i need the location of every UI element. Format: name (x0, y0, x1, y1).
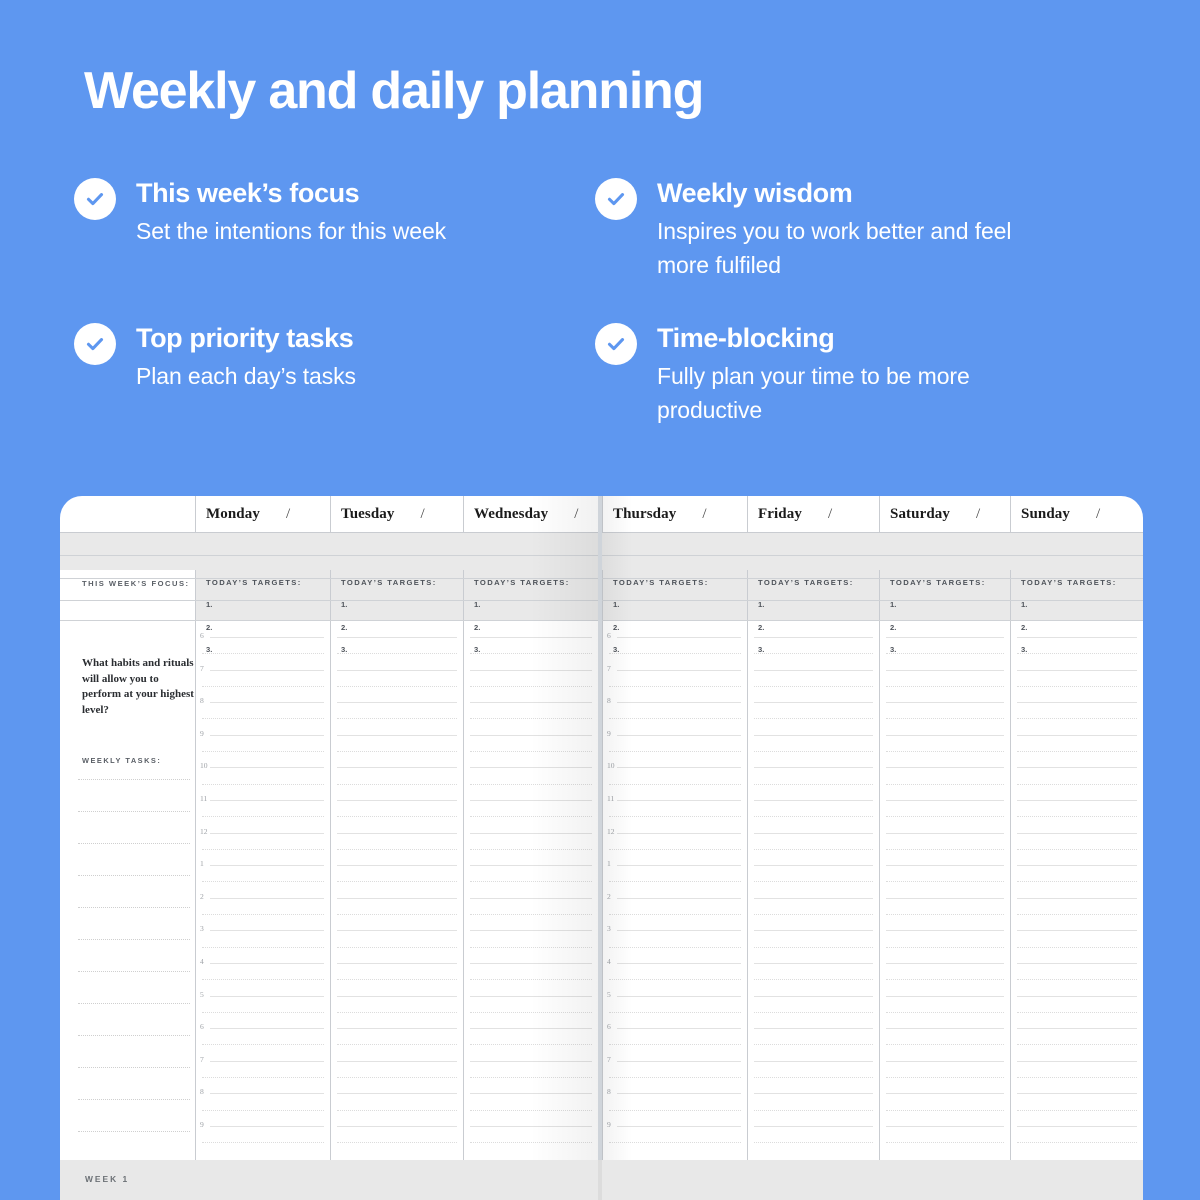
hour-rule (617, 1126, 741, 1127)
hour-rule (754, 735, 873, 736)
hour-row[interactable] (748, 670, 879, 703)
hour-row[interactable] (1011, 963, 1143, 996)
half-hour-rule (886, 686, 1004, 687)
hour-rule (754, 930, 873, 931)
hour-rule (210, 898, 324, 899)
hour-row[interactable]: 1 (603, 865, 747, 898)
hour-row[interactable] (880, 1126, 1010, 1159)
hour-row[interactable] (1011, 996, 1143, 1029)
hour-row[interactable] (331, 963, 463, 996)
feature-description: Plan each day’s tasks (136, 359, 514, 394)
half-hour-rule (754, 751, 873, 752)
hour-label: 7 (200, 1055, 204, 1064)
half-hour-rule (1017, 718, 1137, 719)
hour-row[interactable] (748, 833, 879, 866)
hour-row[interactable] (748, 898, 879, 931)
target-item-2[interactable]: 2. (1021, 623, 1027, 632)
hour-label: 10 (200, 761, 208, 770)
half-hour-rule (609, 979, 741, 980)
hour-rule (337, 670, 457, 671)
hour-label: 4 (607, 957, 611, 966)
day-date-field[interactable]: / (702, 506, 706, 523)
hour-row[interactable] (880, 1028, 1010, 1061)
day-date-field[interactable]: / (421, 506, 425, 523)
hour-row[interactable] (464, 833, 598, 866)
weekly-task-line[interactable] (78, 1099, 190, 1100)
hour-row[interactable] (331, 767, 463, 800)
hour-rule (337, 996, 457, 997)
hour-row[interactable]: 8 (603, 702, 747, 735)
half-hour-rule (609, 1044, 741, 1045)
hour-rule (617, 865, 741, 866)
half-hour-rule (470, 849, 592, 850)
hour-label: 5 (200, 990, 204, 999)
half-hour-rule (202, 1077, 324, 1078)
day-header-monday[interactable]: Monday/ (195, 496, 330, 533)
todays-targets-sunday[interactable]: TODAY’S TARGETS:1.2.3. (1010, 570, 1143, 658)
hour-row[interactable] (880, 670, 1010, 703)
hour-label: 9 (200, 1120, 204, 1129)
todays-targets-tuesday[interactable]: TODAY’S TARGETS:1.2.3. (330, 570, 463, 658)
weekly-task-line[interactable] (78, 907, 190, 908)
todays-targets-wednesday[interactable]: TODAY’S TARGETS:1.2.3. (463, 570, 598, 658)
target-item-2[interactable]: 2. (206, 623, 212, 632)
half-hour-rule (1017, 1142, 1137, 1143)
hour-row[interactable]: 7 (603, 670, 747, 703)
feature-title: This week’s focus (136, 176, 514, 211)
hour-row[interactable]: 2 (603, 898, 747, 931)
hour-row[interactable] (748, 800, 879, 833)
hour-rule (886, 735, 1004, 736)
half-hour-rule (754, 1044, 873, 1045)
check-circle-icon (595, 178, 637, 220)
half-hour-rule (886, 1077, 1004, 1078)
hour-label: 12 (200, 827, 208, 836)
half-hour-rule (470, 947, 592, 948)
feature-description: Fully plan your time to be more producti… (657, 359, 1065, 428)
day-column-friday[interactable] (747, 621, 879, 1160)
hour-row[interactable]: 6 (196, 1028, 330, 1061)
half-hour-rule (886, 816, 1004, 817)
hour-row[interactable]: 3 (196, 930, 330, 963)
hour-rule (886, 898, 1004, 899)
target-item-3[interactable]: 3. (206, 645, 212, 654)
hour-row[interactable] (331, 702, 463, 735)
hour-row[interactable] (1011, 930, 1143, 963)
day-name: Monday (206, 506, 260, 523)
hour-rule (754, 670, 873, 671)
hour-row[interactable]: 6 (603, 1028, 747, 1061)
hour-row[interactable] (748, 1028, 879, 1061)
target-item-1[interactable]: 1. (474, 600, 480, 609)
half-hour-rule (886, 1044, 1004, 1045)
hour-row[interactable]: 3 (603, 930, 747, 963)
hour-row[interactable]: 7 (196, 670, 330, 703)
half-hour-rule (337, 979, 457, 980)
hour-rule (1017, 800, 1137, 801)
hour-rule (617, 767, 741, 768)
target-item-2[interactable]: 2. (613, 623, 619, 632)
hour-rule (886, 800, 1004, 801)
hour-row[interactable] (880, 865, 1010, 898)
hour-row[interactable] (880, 833, 1010, 866)
weekly-task-line[interactable] (78, 939, 190, 940)
hour-label: 1 (607, 859, 611, 868)
target-item-3[interactable]: 3. (758, 645, 764, 654)
hour-rule (886, 930, 1004, 931)
hour-rule (337, 1126, 457, 1127)
todays-targets-friday[interactable]: TODAY’S TARGETS:1.2.3. (747, 570, 879, 658)
todays-targets-saturday[interactable]: TODAY’S TARGETS:1.2.3. (879, 570, 1010, 658)
hour-label: 2 (200, 892, 204, 901)
hour-rule (617, 963, 741, 964)
hour-row[interactable] (464, 735, 598, 768)
half-hour-rule (470, 979, 592, 980)
hour-rule (886, 996, 1004, 997)
hour-rule (617, 930, 741, 931)
target-item-1[interactable]: 1. (1021, 600, 1027, 609)
hour-row[interactable]: 1 (196, 865, 330, 898)
hour-row[interactable] (464, 1093, 598, 1126)
hour-row[interactable]: 9 (196, 735, 330, 768)
hour-row[interactable] (880, 996, 1010, 1029)
weekly-task-line[interactable] (78, 971, 190, 972)
half-hour-rule (754, 816, 873, 817)
hour-row[interactable] (748, 1126, 879, 1159)
half-hour-rule (337, 947, 457, 948)
hour-row[interactable] (880, 930, 1010, 963)
weekly-task-line[interactable] (78, 1003, 190, 1004)
weekly-task-line[interactable] (78, 843, 190, 844)
hour-row[interactable] (331, 735, 463, 768)
hour-rule (210, 833, 324, 834)
hour-row[interactable]: 4 (196, 963, 330, 996)
hour-row[interactable] (748, 996, 879, 1029)
check-circle-icon (74, 178, 116, 220)
todays-targets-label: TODAY’S TARGETS: (890, 578, 986, 587)
day-name: Sunday (1021, 506, 1070, 523)
hour-row[interactable] (464, 1126, 598, 1159)
hour-row[interactable]: 4 (603, 963, 747, 996)
half-hour-rule (202, 751, 324, 752)
half-hour-rule (470, 718, 592, 719)
half-hour-rule (886, 718, 1004, 719)
hour-rule (337, 930, 457, 931)
hour-row[interactable]: 7 (603, 1061, 747, 1094)
target-item-1[interactable]: 1. (613, 600, 619, 609)
target-item-1[interactable]: 1. (890, 600, 896, 609)
hour-row[interactable] (1011, 1061, 1143, 1094)
hour-row[interactable]: 8 (196, 1093, 330, 1126)
hour-row[interactable] (331, 865, 463, 898)
day-header-wednesday[interactable]: Wednesday/ (463, 496, 598, 533)
target-item-2[interactable]: 2. (474, 623, 480, 632)
hour-rule (470, 735, 592, 736)
hour-row[interactable] (748, 1093, 879, 1126)
day-date-field[interactable]: / (828, 506, 832, 523)
half-hour-rule (609, 784, 741, 785)
time-grid-monday: 6789101112123456789 (196, 621, 330, 1160)
day-name: Tuesday (341, 506, 395, 523)
half-hour-rule (1017, 816, 1137, 817)
target-item-3[interactable]: 3. (890, 645, 896, 654)
weekly-tasks-label: WEEKLY TASKS: (82, 756, 161, 765)
hour-row[interactable] (1011, 1093, 1143, 1126)
target-item-3[interactable]: 3. (341, 645, 347, 654)
hour-row[interactable] (331, 1028, 463, 1061)
half-hour-rule (886, 881, 1004, 882)
hour-row[interactable] (464, 1028, 598, 1061)
half-hour-rule (202, 914, 324, 915)
todays-targets-label: TODAY’S TARGETS: (474, 578, 570, 587)
hour-rule (886, 767, 1004, 768)
feature-this-weeks-focus: This week’s focus Set the intentions for… (74, 176, 514, 248)
day-header-saturday[interactable]: Saturday/ (879, 496, 1010, 533)
hour-row[interactable] (464, 702, 598, 735)
hour-row[interactable] (464, 930, 598, 963)
hour-row[interactable] (880, 800, 1010, 833)
hour-row[interactable]: 11 (603, 800, 747, 833)
hour-rule (1017, 833, 1137, 834)
hour-row[interactable] (331, 670, 463, 703)
hour-row[interactable]: 12 (603, 833, 747, 866)
half-hour-rule (609, 881, 741, 882)
hour-row[interactable] (464, 865, 598, 898)
half-hour-rule (202, 784, 324, 785)
half-hour-rule (609, 1110, 741, 1111)
half-hour-rule (754, 1077, 873, 1078)
hour-row[interactable] (748, 735, 879, 768)
target-item-2[interactable]: 2. (341, 623, 347, 632)
day-column-saturday[interactable] (879, 621, 1010, 1160)
hour-row[interactable] (1011, 865, 1143, 898)
hour-row[interactable] (748, 702, 879, 735)
hour-label: 6 (200, 1022, 204, 1031)
this-weeks-focus-panel[interactable]: THIS WEEK’S FOCUS: (60, 570, 195, 658)
target-item-3[interactable]: 3. (474, 645, 480, 654)
half-hour-rule (1017, 751, 1137, 752)
target-item-1[interactable]: 1. (341, 600, 347, 609)
hour-rule (337, 1028, 457, 1029)
hour-row[interactable]: 7 (196, 1061, 330, 1094)
hour-row[interactable]: 9 (603, 1126, 747, 1159)
hour-rule (1017, 670, 1137, 671)
hour-rule (886, 833, 1004, 834)
hour-row[interactable] (464, 800, 598, 833)
hour-row[interactable] (464, 963, 598, 996)
this-weeks-focus-label: THIS WEEK’S FOCUS: (82, 579, 190, 588)
hour-rule (1017, 702, 1137, 703)
hour-row[interactable]: 5 (603, 996, 747, 1029)
left-panel-body: WEEKLY WISDOM: What habits and rituals w… (60, 621, 195, 1160)
hour-row[interactable] (1011, 833, 1143, 866)
hour-row[interactable]: 8 (603, 1093, 747, 1126)
weekly-task-line[interactable] (78, 1067, 190, 1068)
hour-row[interactable] (464, 767, 598, 800)
hour-label: 9 (607, 1120, 611, 1129)
hour-rule (210, 670, 324, 671)
hour-rule (210, 1093, 324, 1094)
hour-rule (1017, 865, 1137, 866)
half-hour-rule (1017, 849, 1137, 850)
day-name: Saturday (890, 506, 950, 523)
hour-label: 1 (200, 859, 204, 868)
target-item-2[interactable]: 2. (758, 623, 764, 632)
day-header-thursday[interactable]: Thursday/ (602, 496, 747, 533)
hour-row[interactable] (748, 1061, 879, 1094)
todays-targets-thursday[interactable]: TODAY’S TARGETS:1.2.3. (602, 570, 747, 658)
hour-rule (886, 865, 1004, 866)
hour-row[interactable] (880, 702, 1010, 735)
half-hour-rule (202, 947, 324, 948)
hour-row[interactable]: 8 (196, 702, 330, 735)
half-hour-rule (337, 784, 457, 785)
hour-row[interactable] (464, 670, 598, 703)
hour-row[interactable] (880, 1061, 1010, 1094)
half-hour-rule (337, 1110, 457, 1111)
half-hour-rule (609, 1142, 741, 1143)
hour-row[interactable] (331, 1093, 463, 1126)
hour-row[interactable] (331, 996, 463, 1029)
hour-row[interactable] (748, 767, 879, 800)
hour-row[interactable] (331, 800, 463, 833)
hour-row[interactable] (880, 735, 1010, 768)
hour-rule (754, 963, 873, 964)
weekly-task-line[interactable] (78, 1131, 190, 1132)
half-hour-rule (886, 1012, 1004, 1013)
weekly-task-line[interactable] (78, 1035, 190, 1036)
hour-row[interactable] (880, 767, 1010, 800)
hour-row[interactable] (880, 1093, 1010, 1126)
day-column-monday[interactable]: 6789101112123456789 (195, 621, 330, 1160)
hour-label: 7 (607, 1055, 611, 1064)
hour-row[interactable] (464, 898, 598, 931)
day-column-sunday[interactable] (1010, 621, 1143, 1160)
hour-rule (617, 1093, 741, 1094)
hour-label: 12 (607, 827, 615, 836)
hour-row[interactable] (1011, 800, 1143, 833)
day-column-wednesday[interactable] (463, 621, 598, 1160)
hour-rule (886, 1093, 1004, 1094)
weekly-task-line[interactable] (78, 811, 190, 812)
hour-rule (886, 963, 1004, 964)
hour-row[interactable]: 11 (196, 800, 330, 833)
half-hour-rule (202, 718, 324, 719)
hour-row[interactable] (880, 963, 1010, 996)
hour-row[interactable] (748, 963, 879, 996)
hour-row[interactable] (748, 865, 879, 898)
hour-row[interactable] (748, 930, 879, 963)
hour-row[interactable] (464, 996, 598, 1029)
todays-targets-monday[interactable]: TODAY’S TARGETS:1.2.3. (195, 570, 330, 658)
hour-rule (470, 800, 592, 801)
feature-title: Top priority tasks (136, 321, 514, 356)
hour-row[interactable] (1011, 898, 1143, 931)
hour-row[interactable] (464, 1061, 598, 1094)
weekly-task-line[interactable] (78, 779, 190, 780)
half-hour-rule (1017, 914, 1137, 915)
target-item-2[interactable]: 2. (890, 623, 896, 632)
feature-weekly-wisdom: Weekly wisdom Inspires you to work bette… (595, 176, 1065, 283)
feature-time-blocking: Time-blocking Fully plan your time to be… (595, 321, 1065, 428)
hour-row[interactable]: 2 (196, 898, 330, 931)
target-item-1[interactable]: 1. (758, 600, 764, 609)
day-date-field[interactable]: / (574, 506, 578, 523)
day-header-friday[interactable]: Friday/ (747, 496, 879, 533)
page-title: Weekly and daily planning (84, 62, 703, 120)
half-hour-rule (754, 849, 873, 850)
half-hour-rule (337, 1077, 457, 1078)
hour-row[interactable] (880, 898, 1010, 931)
hour-row[interactable] (1011, 767, 1143, 800)
hour-rule (1017, 1093, 1137, 1094)
hour-row[interactable]: 9 (196, 1126, 330, 1159)
day-header-tuesday[interactable]: Tuesday/ (330, 496, 463, 533)
half-hour-rule (202, 1044, 324, 1045)
half-hour-rule (202, 1012, 324, 1013)
hour-row[interactable] (331, 1126, 463, 1159)
half-hour-rule (754, 718, 873, 719)
hour-row[interactable] (331, 1061, 463, 1094)
todays-targets-label: TODAY’S TARGETS: (1021, 578, 1117, 587)
hour-row[interactable] (331, 898, 463, 931)
target-item-1[interactable]: 1. (206, 600, 212, 609)
day-date-field[interactable]: / (1096, 506, 1100, 523)
hour-row[interactable]: 9 (603, 735, 747, 768)
hour-rule (470, 930, 592, 931)
half-hour-rule (337, 751, 457, 752)
hour-row[interactable]: 5 (196, 996, 330, 1029)
half-hour-rule (337, 914, 457, 915)
day-date-field[interactable]: / (286, 506, 290, 523)
half-hour-rule (202, 881, 324, 882)
hour-row[interactable] (331, 833, 463, 866)
time-grid-sunday (1011, 621, 1143, 1160)
day-name: Thursday (613, 506, 676, 523)
feature-title: Time-blocking (657, 321, 1065, 356)
left-panel-header (60, 496, 195, 533)
hour-row[interactable] (1011, 702, 1143, 735)
day-header-sunday[interactable]: Sunday/ (1010, 496, 1143, 533)
day-date-field[interactable]: / (976, 506, 980, 523)
hour-rule (470, 670, 592, 671)
hour-rule (754, 833, 873, 834)
half-hour-rule (886, 979, 1004, 980)
hour-row[interactable] (1011, 1028, 1143, 1061)
half-hour-rule (1017, 1044, 1137, 1045)
hour-rule (886, 670, 1004, 671)
day-column-tuesday[interactable] (330, 621, 463, 1160)
hour-row[interactable] (331, 930, 463, 963)
hour-rule (470, 1028, 592, 1029)
hour-row[interactable]: 12 (196, 833, 330, 866)
weekly-task-line[interactable] (78, 875, 190, 876)
hour-rule (617, 833, 741, 834)
half-hour-rule (337, 1012, 457, 1013)
hour-row[interactable] (1011, 1126, 1143, 1159)
hour-row[interactable] (1011, 670, 1143, 703)
hour-row[interactable] (1011, 735, 1143, 768)
weekly-tasks-lines[interactable] (78, 779, 190, 1163)
hour-row[interactable]: 10 (196, 767, 330, 800)
target-item-3[interactable]: 3. (1021, 645, 1027, 654)
hour-rule (210, 996, 324, 997)
target-item-3[interactable]: 3. (613, 645, 619, 654)
hour-rule (754, 898, 873, 899)
hour-row[interactable]: 10 (603, 767, 747, 800)
day-column-thursday[interactable]: 6789101112123456789 (602, 621, 747, 1160)
hour-rule (1017, 735, 1137, 736)
